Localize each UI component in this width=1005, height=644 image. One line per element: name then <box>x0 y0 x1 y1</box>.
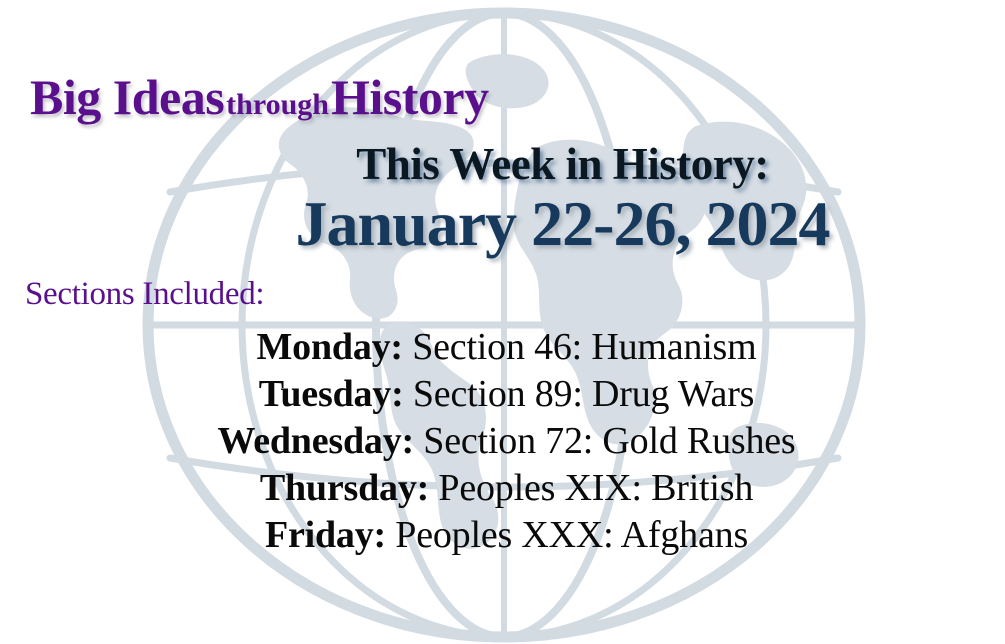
schedule-day: Monday: <box>256 326 402 368</box>
schedule-day: Friday: <box>265 514 386 556</box>
schedule-detail: Section 89: Drug Wars <box>413 373 754 415</box>
schedule-detail: Section 46: Humanism <box>412 326 756 368</box>
slide-canvas: Big IdeasthroughHistory This Week in His… <box>0 0 1005 644</box>
schedule-detail: Section 72: Gold Rushes <box>423 420 795 462</box>
brand-title-history: History <box>331 69 489 125</box>
schedule-row: Friday: Peoples XXX: Afghans <box>8 512 1005 559</box>
schedule-row: Wednesday: Section 72: Gold Rushes <box>8 418 1005 465</box>
schedule-day: Thursday: <box>260 467 429 509</box>
week-heading: This Week in History: <box>0 142 1005 187</box>
schedule-detail: Peoples XXX: Afghans <box>395 514 748 556</box>
brand-title: Big IdeasthroughHistory <box>30 72 489 122</box>
schedule-day: Tuesday: <box>259 373 404 415</box>
schedule-row: Thursday: Peoples XIX: British <box>8 465 1005 512</box>
schedule-detail: Peoples XIX: British <box>438 467 753 509</box>
brand-title-big: Big Ideas <box>30 69 224 125</box>
sections-included-label: Sections Included: <box>25 278 264 311</box>
schedule-row: Monday: Section 46: Humanism <box>8 324 1005 371</box>
schedule-day: Wednesday: <box>217 420 413 462</box>
brand-title-through: through <box>224 88 331 121</box>
schedule-row: Tuesday: Section 89: Drug Wars <box>8 371 1005 418</box>
date-heading: January 22-26, 2024 <box>0 192 1005 256</box>
schedule-list: Monday: Section 46: Humanism Tuesday: Se… <box>0 324 1005 559</box>
